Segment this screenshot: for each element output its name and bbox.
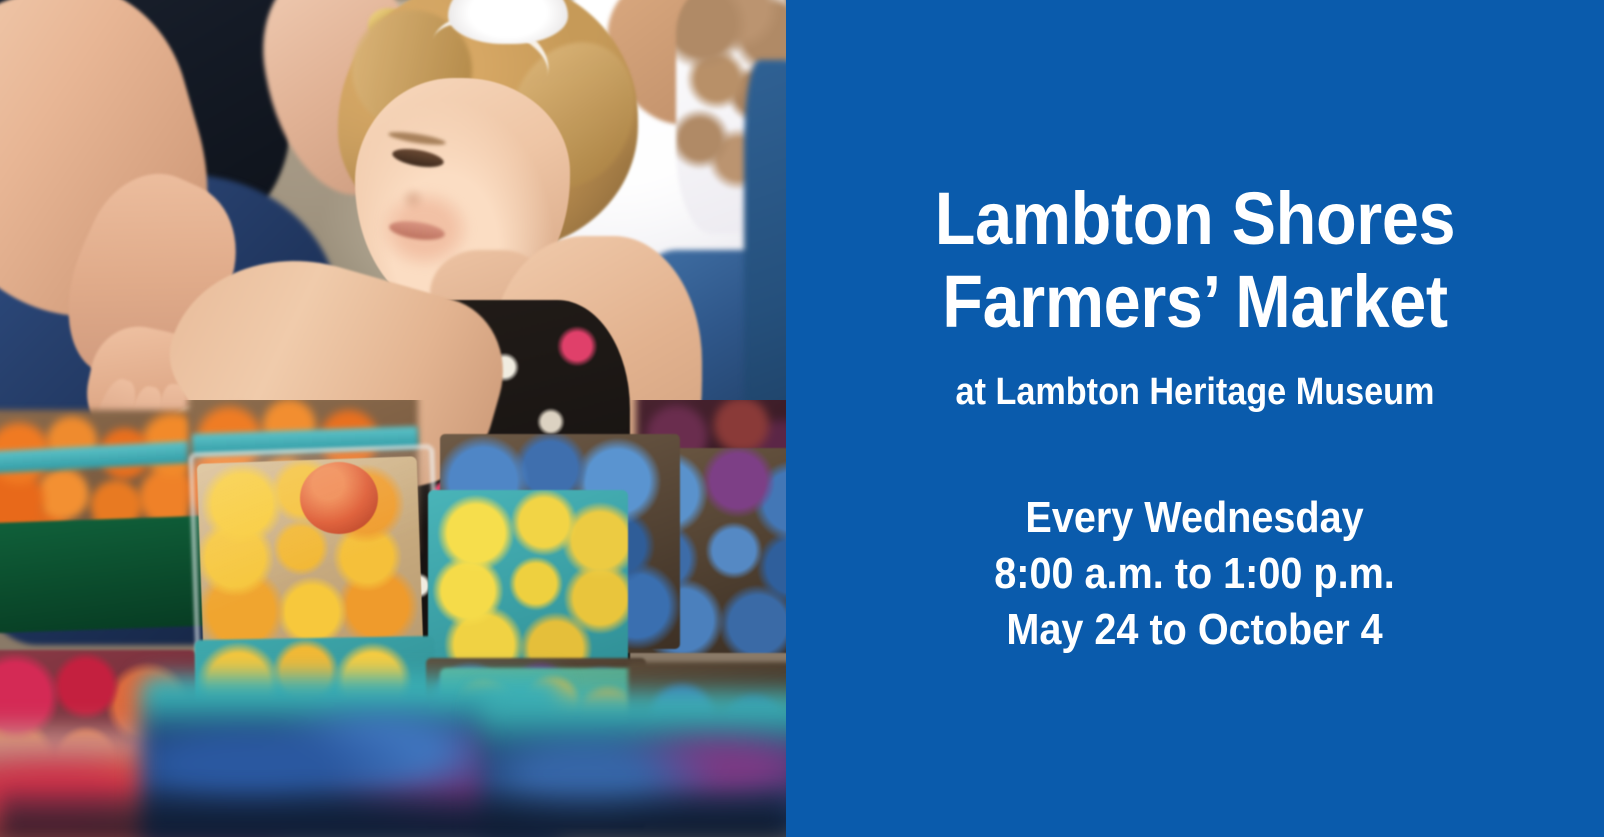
info-panel: Lambton Shores Farmers’ Market at Lambto… [786,0,1604,837]
market-photo [0,0,786,837]
market-title-line-2: Farmers’ Market [867,261,1524,344]
girl-nose [400,188,426,210]
foreground-shadow-band [0,792,786,837]
market-title-line-1: Lambton Shores [867,178,1524,261]
schedule-day: Every Wednesday [995,490,1396,546]
schedule-season: May 24 to October 4 [995,602,1396,658]
produce-table [0,400,786,837]
farmers-market-poster: Lambton Shores Farmers’ Market at Lambto… [0,0,1604,837]
title-block: Lambton Shores Farmers’ Market at Lambto… [830,178,1560,415]
yellow-plum-punnet-right [428,490,628,670]
schedule-details: Every Wednesday 8:00 a.m. to 1:00 p.m. M… [972,490,1417,659]
venue-subtitle: at Lambton Heritage Museum [867,370,1524,416]
schedule-hours: 8:00 a.m. to 1:00 p.m. [995,546,1396,602]
